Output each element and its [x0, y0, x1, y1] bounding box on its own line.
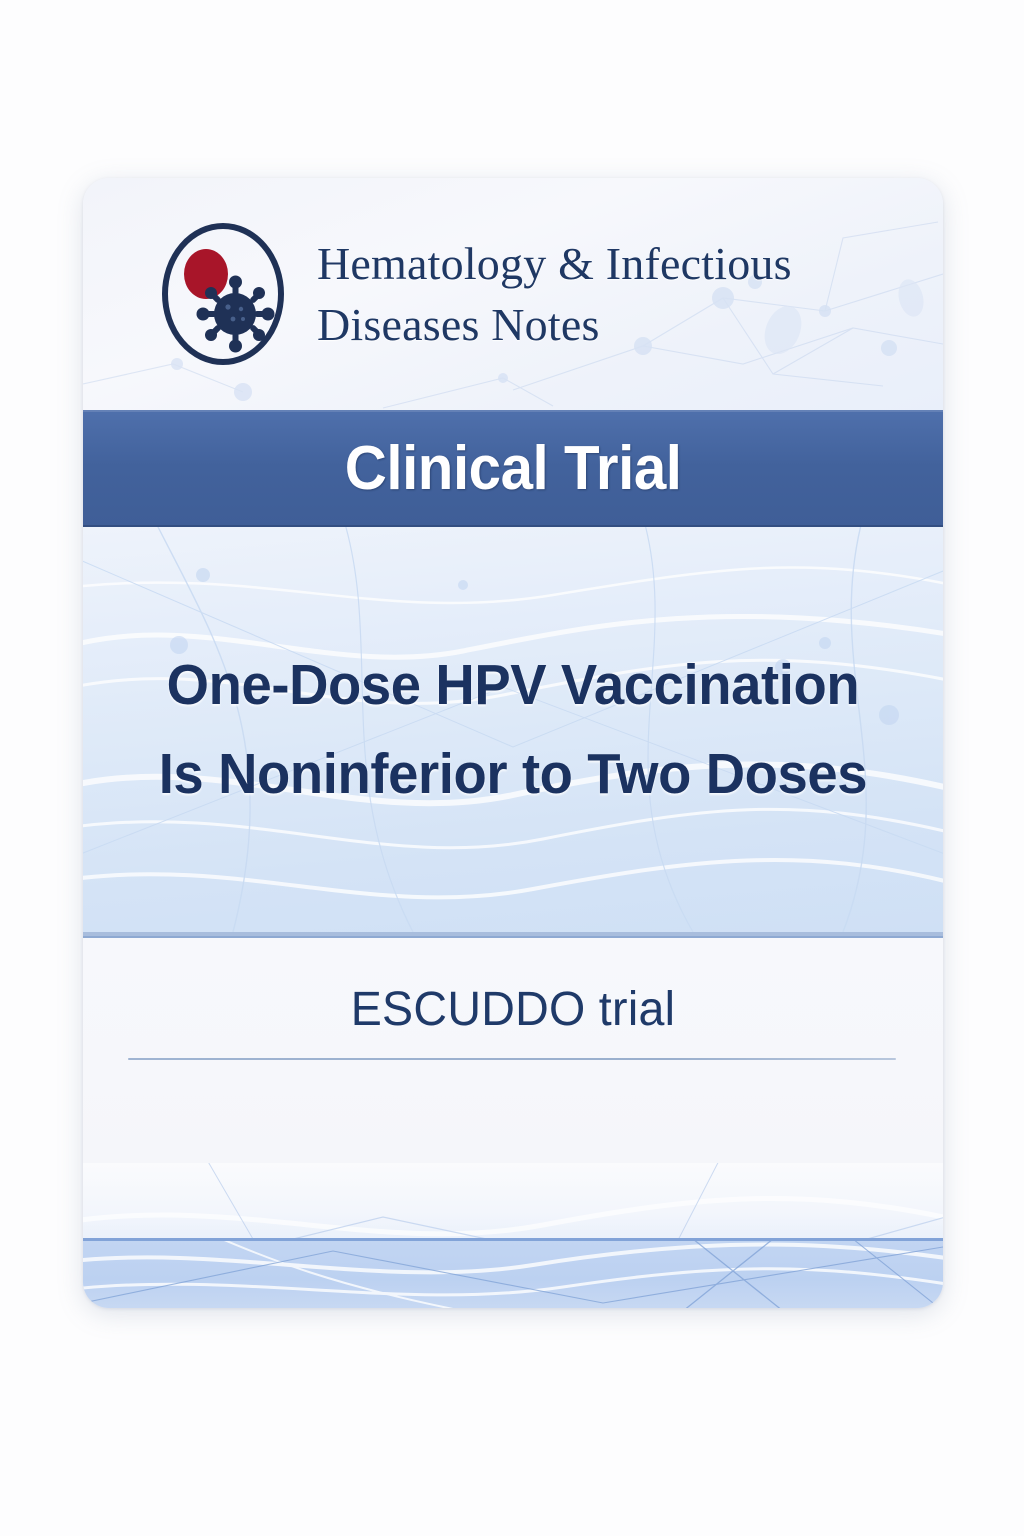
category-banner-label: Clinical Trial — [345, 433, 682, 504]
slide-card: Hematology & Infectious Diseases Notes C… — [83, 178, 943, 1308]
header-band: Hematology & Infectious Diseases Notes — [83, 178, 943, 410]
title-band: One-Dose HPV Vaccination Is Noninferior … — [83, 527, 943, 932]
logo-mark — [155, 218, 291, 370]
trial-name: ESCUDDO trial — [96, 982, 930, 1037]
study-title-line1: One-Dose HPV Vaccination — [159, 641, 867, 729]
category-banner: Clinical Trial — [83, 410, 943, 527]
slide-canvas: Hematology & Infectious Diseases Notes C… — [0, 0, 1024, 1536]
brand-title-line1: Hematology & Infectious — [317, 238, 792, 289]
footer-texture-decoration — [83, 1241, 943, 1308]
trial-divider — [128, 1058, 896, 1060]
circle-logo-icon — [155, 218, 291, 370]
study-title: One-Dose HPV Vaccination Is Noninferior … — [159, 641, 867, 818]
trial-band: ESCUDDO trial — [83, 932, 943, 1163]
brand-title-line2: Diseases Notes — [317, 294, 792, 355]
footer-band — [83, 1238, 943, 1308]
study-title-line2: Is Noninferior to Two Doses — [159, 730, 867, 818]
brand-title: Hematology & Infectious Diseases Notes — [317, 233, 792, 355]
